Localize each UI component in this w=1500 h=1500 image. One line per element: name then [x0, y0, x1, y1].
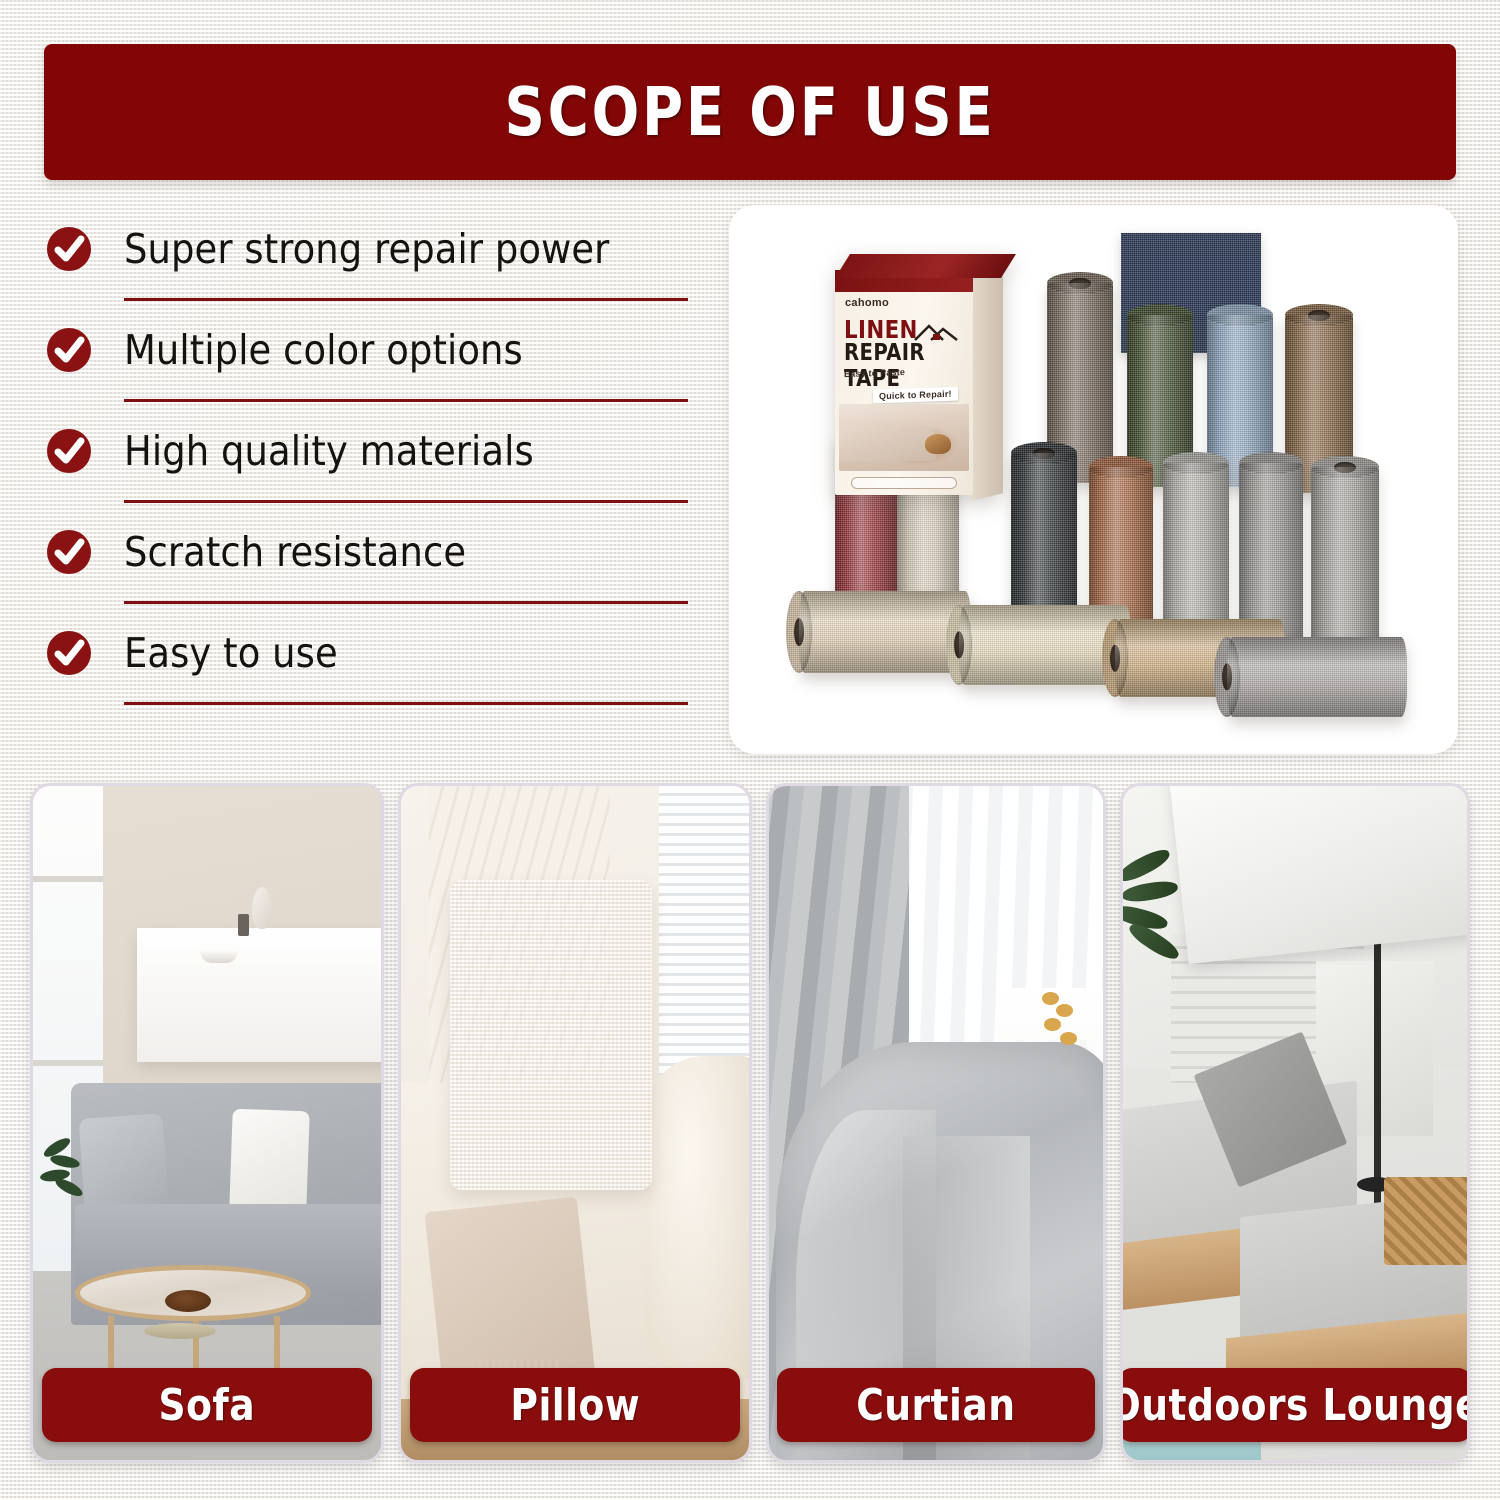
scenario-tile-pillow[interactable]: Pillow	[398, 783, 752, 1463]
tile-label-text: Outdoors Lounge	[1120, 1380, 1470, 1431]
product-box: cahomo LINEN REPAIR TAPE Easy to Paste Q…	[835, 270, 973, 495]
box-tag-quick-to-repair: Quick to Repair!	[873, 387, 958, 404]
scenario-tile-sofa[interactable]: Sofa	[30, 783, 384, 1463]
tile-label-sofa: Sofa	[42, 1368, 372, 1442]
tape-roll-stone	[1311, 467, 1379, 653]
brand-logo: cahomo	[845, 297, 889, 309]
tile-label-curtain: Curtian	[777, 1368, 1095, 1442]
box-size-strip	[851, 477, 957, 489]
box-front-panel: cahomo LINEN REPAIR TAPE Easy to Paste Q…	[835, 270, 973, 495]
product-image-card: cahomo LINEN REPAIR TAPE Easy to Paste Q…	[729, 205, 1458, 754]
check-circle-icon	[46, 327, 92, 373]
box-headline-bottom: REPAIR TAPE	[844, 340, 967, 392]
scenario-tile-curtain[interactable]: Curtian	[766, 783, 1106, 1463]
tile-label-pillow: Pillow	[410, 1368, 740, 1442]
feature-label: Scratch resistance	[124, 528, 466, 576]
box-tag-easy-to-paste: Easy to Paste	[844, 367, 905, 379]
feature-list: Super strong repair power Multiple color…	[46, 200, 692, 705]
feature-label: Super strong repair power	[124, 225, 609, 273]
sofa-scene-image	[33, 786, 381, 1460]
check-circle-icon	[46, 630, 92, 676]
feature-divider	[124, 702, 688, 705]
feature-item: Multiple color options	[46, 301, 692, 399]
box-top-panel	[835, 254, 1016, 278]
curtain-scene-image	[769, 786, 1103, 1460]
tile-label-text: Curtian	[856, 1380, 1015, 1431]
check-circle-icon	[46, 226, 92, 272]
feature-label: Multiple color options	[124, 326, 523, 374]
check-circle-icon	[46, 529, 92, 575]
tape-roll-cream-horizontal	[799, 591, 971, 673]
feature-item: Easy to use	[46, 604, 692, 702]
header-banner: SCOPE OF USE	[44, 44, 1456, 180]
scenario-tile-outdoors-lounge[interactable]: Outdoors Lounge	[1120, 783, 1470, 1463]
check-circle-icon	[46, 428, 92, 474]
box-side-panel	[971, 274, 1003, 500]
scenario-tiles: Sofa Pillow	[30, 783, 1470, 1463]
page-title: SCOPE OF USE	[504, 73, 995, 151]
feature-item: Super strong repair power	[46, 200, 692, 298]
tape-roll-warm-grey-horizontal	[1227, 637, 1407, 717]
tile-label-outdoors-lounge: Outdoors Lounge	[1120, 1368, 1470, 1442]
brand-name: cahomo	[845, 297, 889, 309]
box-lifestyle-photo	[839, 404, 969, 471]
feature-item: Scratch resistance	[46, 503, 692, 601]
feature-label: Easy to use	[124, 629, 338, 677]
pillow-scene-image	[401, 786, 749, 1460]
outdoor-lounge-scene-image	[1123, 786, 1467, 1460]
tile-label-text: Pillow	[510, 1380, 640, 1431]
feature-item: High quality materials	[46, 402, 692, 500]
infographic-page: SCOPE OF USE Super strong repair power M…	[0, 0, 1500, 1500]
tile-label-text: Sofa	[159, 1380, 256, 1431]
feature-label: High quality materials	[124, 427, 534, 475]
product-photo: cahomo LINEN REPAIR TAPE Easy to Paste Q…	[729, 205, 1458, 754]
house-roof-icon	[913, 320, 959, 346]
